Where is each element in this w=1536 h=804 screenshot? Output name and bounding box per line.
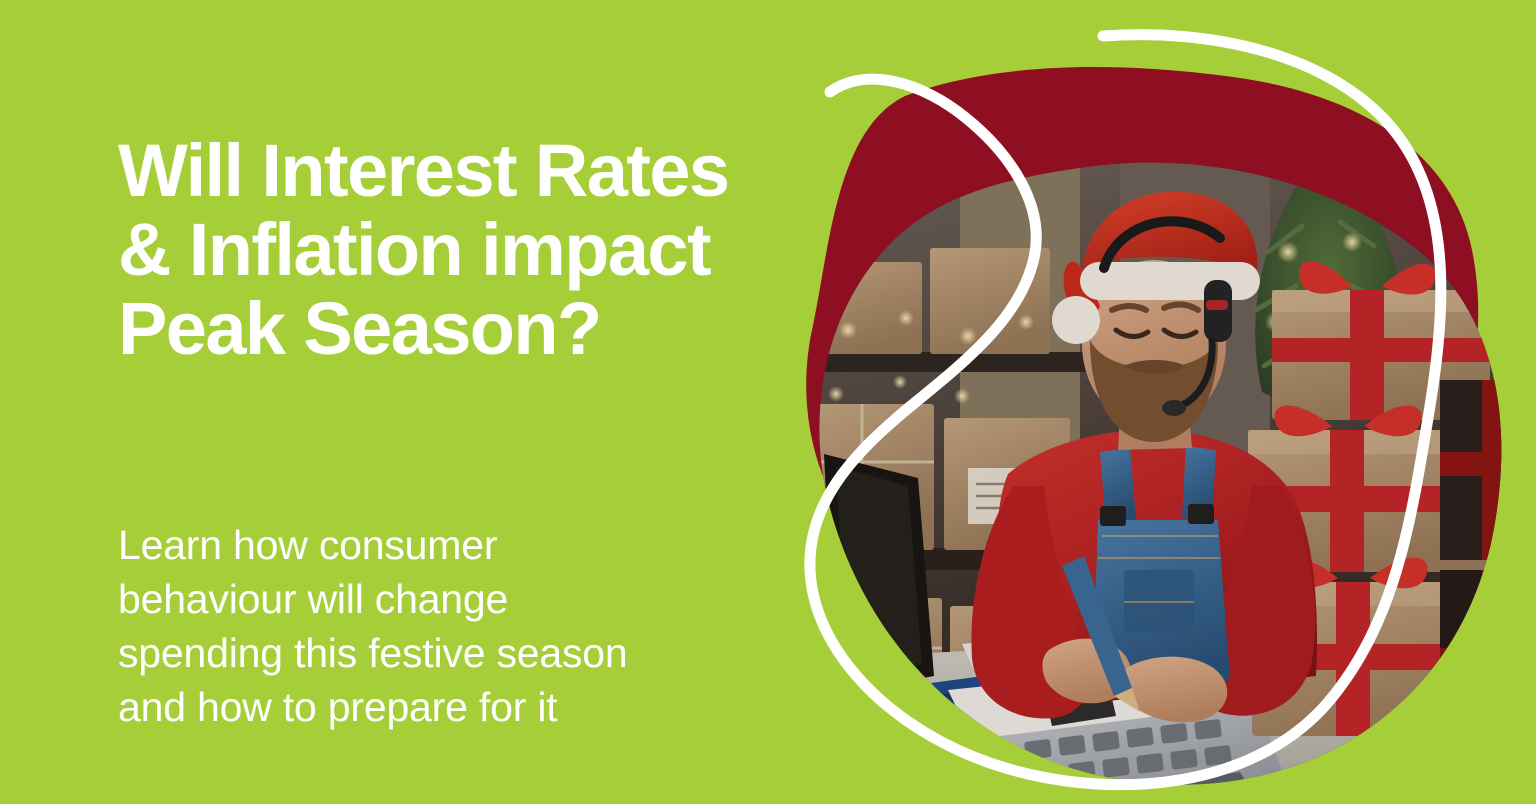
page-title: Will Interest Rates & Inflation impact P…: [118, 131, 728, 369]
subtitle: Learn how consumer behaviour will change…: [118, 518, 628, 734]
peak-season-banner: Will Interest Rates & Inflation impact P…: [0, 0, 1536, 804]
